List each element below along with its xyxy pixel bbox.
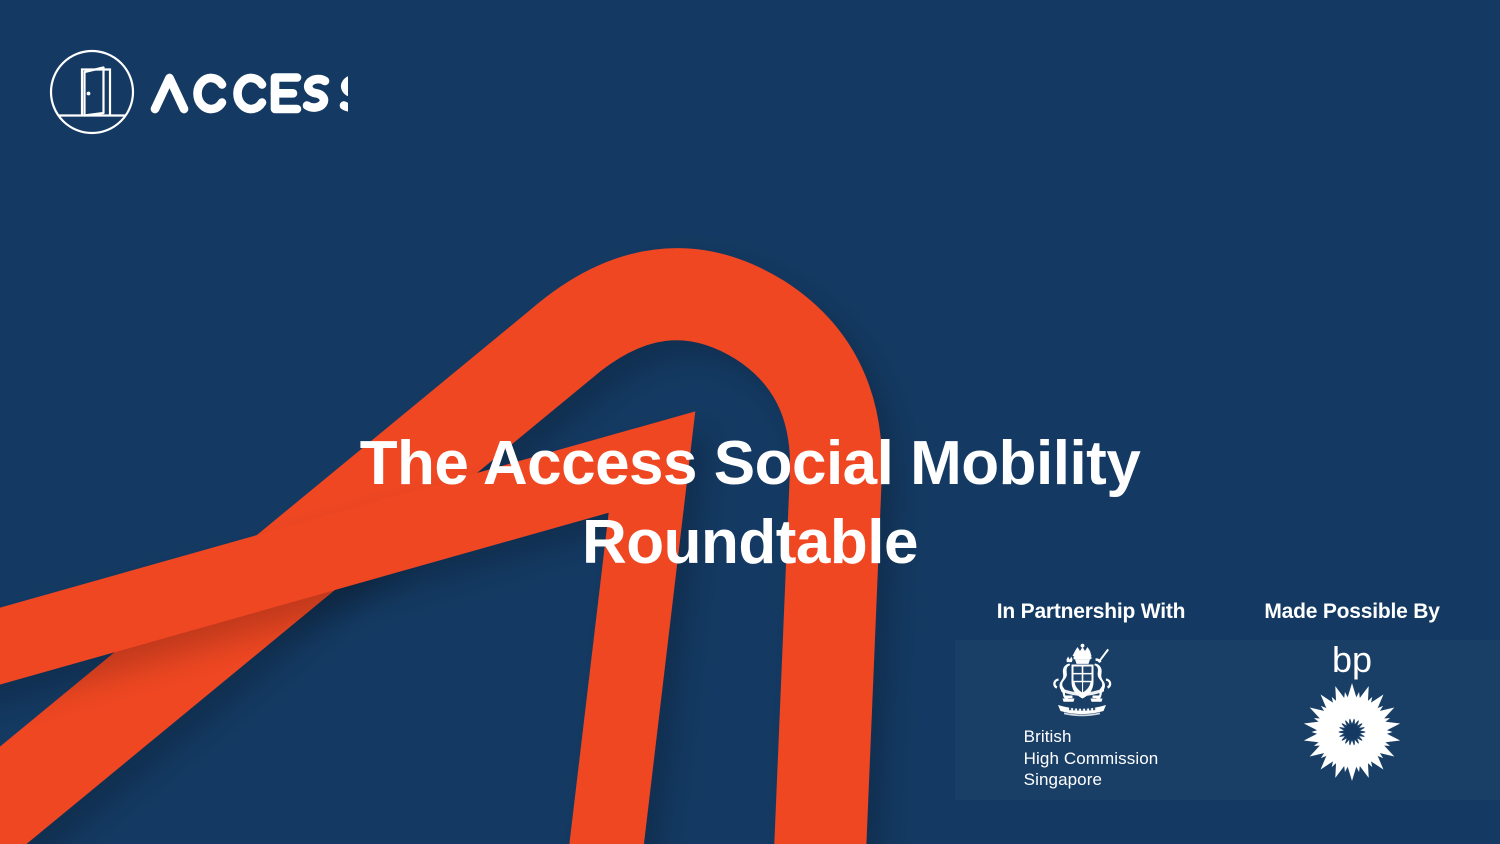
access-wordmark: ACCESS — [150, 69, 348, 115]
partner-logos: In Partnership With — [955, 600, 1500, 844]
bp-wordmark: bp — [1332, 642, 1372, 678]
open-door-in-circle-icon — [48, 48, 136, 136]
page-title: The Access Social Mobility Roundtable — [300, 424, 1200, 583]
title-slide: ACCESS The Access Social Mobility Roundt… — [0, 0, 1500, 844]
access-logo[interactable]: ACCESS — [48, 48, 348, 136]
partner-heading-made-possible-by: Made Possible By — [1264, 600, 1439, 624]
bp-logo[interactable]: bp — [1300, 642, 1404, 784]
british-high-commission-name: British High Commission Singapore — [1024, 726, 1159, 791]
bp-helios-sunflower-icon — [1300, 680, 1404, 784]
british-high-commission-singapore-logo[interactable]: British High Commission Singapore — [1024, 642, 1159, 791]
partner-bp: Made Possible By bp — [1227, 600, 1477, 784]
royal-coat-of-arms-icon — [1028, 642, 1136, 720]
partner-british-high-commission: In Partnership With — [955, 600, 1227, 791]
partner-heading-in-partnership-with: In Partnership With — [997, 600, 1186, 624]
